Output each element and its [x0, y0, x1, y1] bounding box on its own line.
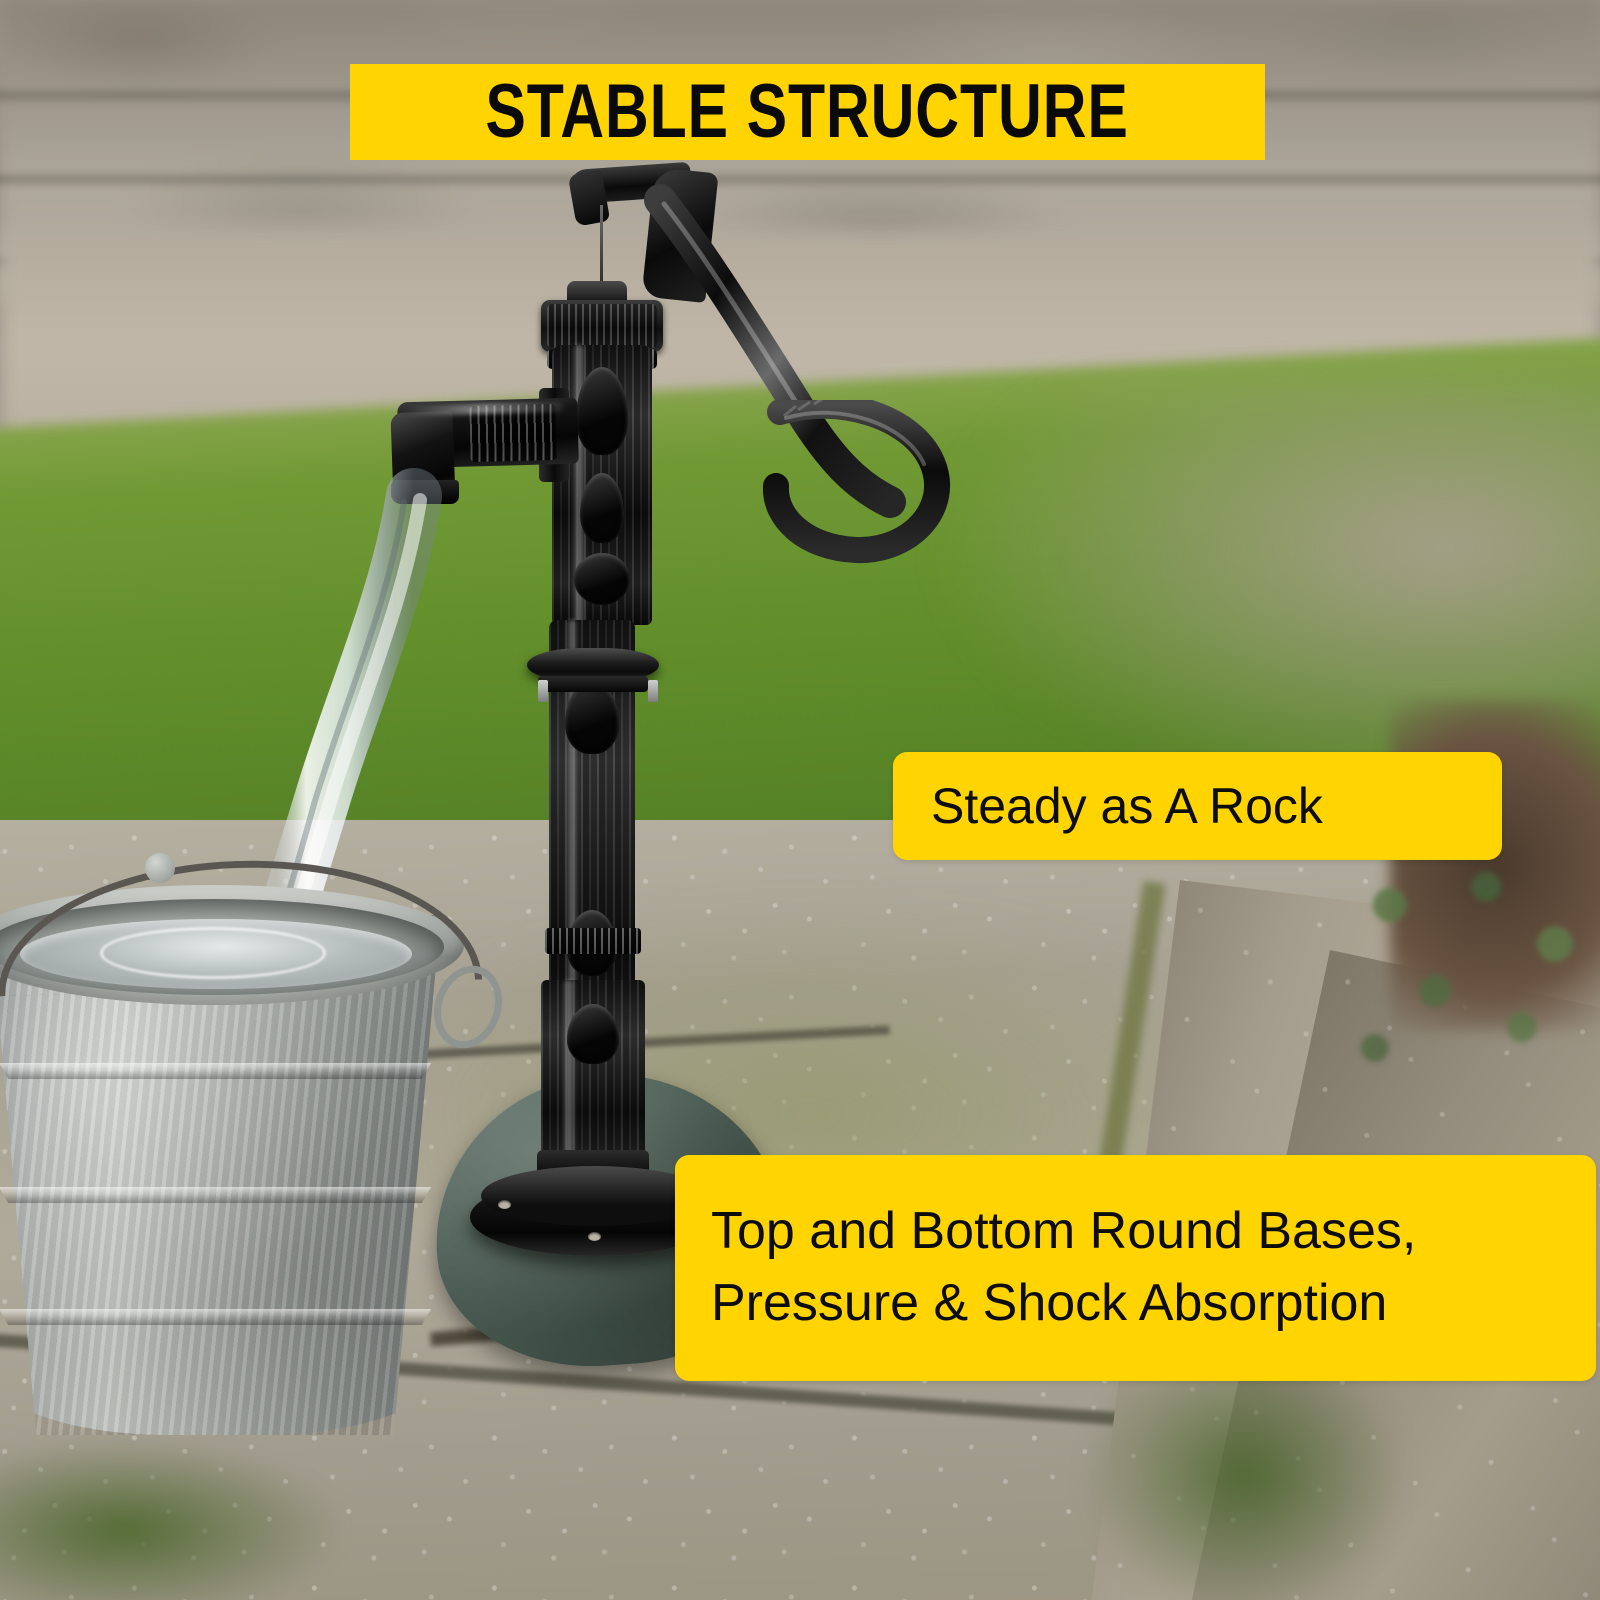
callout-steady-text: Steady as A Rock [931, 777, 1323, 835]
headline-banner: STABLE STRUCTURE [350, 64, 1265, 160]
bucket-rib [0, 1063, 450, 1079]
product-marketing-image: STABLE STRUCTURE Steady as A Rock Top an… [0, 0, 1600, 1600]
bucket-rib [0, 1187, 450, 1203]
callout-bases-line2: Pressure & Shock Absorption [711, 1268, 1387, 1340]
bucket-rib [0, 1309, 450, 1325]
galvanized-bucket [0, 835, 520, 1455]
bucket-bail-handle[interactable] [0, 853, 482, 997]
bucket-handle-lug [145, 853, 175, 883]
page-title: STABLE STRUCTURE [486, 74, 1129, 150]
callout-round-bases: Top and Bottom Round Bases, Pressure & S… [675, 1155, 1596, 1381]
callout-bases-line1: Top and Bottom Round Bases, [711, 1196, 1416, 1268]
callout-steady-as-a-rock: Steady as A Rock [893, 752, 1502, 860]
